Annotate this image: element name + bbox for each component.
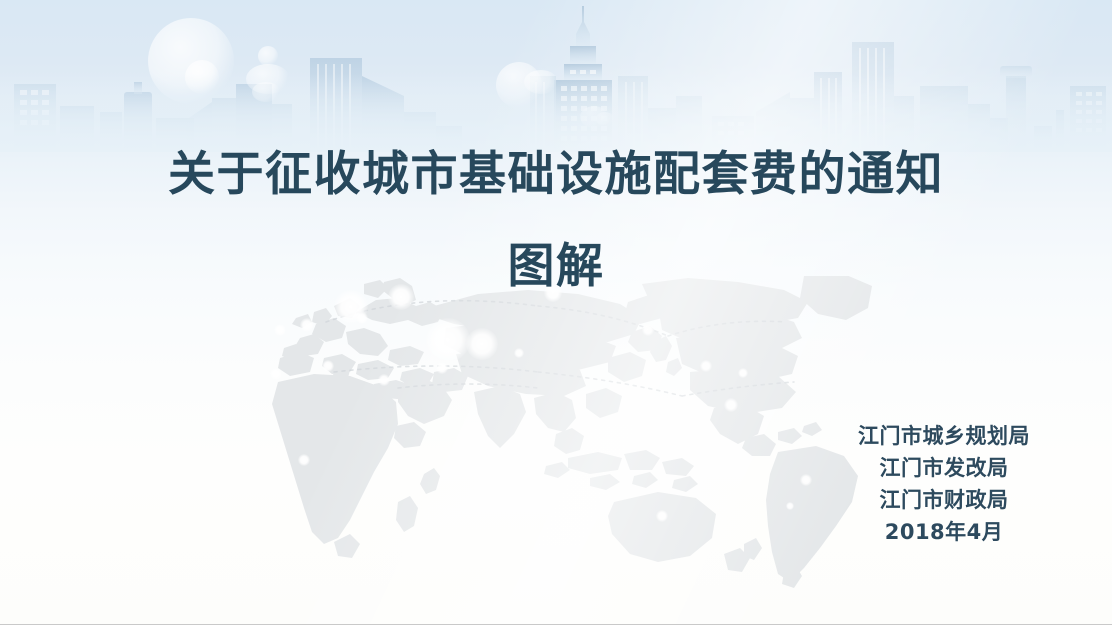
- bokeh-glow-icon: [246, 64, 290, 94]
- map-node-dot-icon: [642, 324, 654, 336]
- bokeh-glow-icon: [252, 82, 280, 102]
- map-node-dot-icon: [274, 324, 286, 336]
- map-node-dot-icon: [378, 374, 390, 386]
- bokeh-glow-icon: [524, 70, 558, 94]
- map-node-dot-icon: [436, 362, 448, 374]
- bokeh-glow-icon: [496, 62, 542, 108]
- map-node-dot-icon: [544, 284, 562, 302]
- map-node-dot-icon: [270, 368, 282, 380]
- skyline-fade-overlay: [0, 74, 1112, 152]
- page-title-line-2: 图解: [0, 236, 1112, 298]
- signature-date: 2018年4月: [844, 516, 1044, 548]
- signature-agency-2: 江门市发改局: [844, 452, 1044, 484]
- bokeh-glow-icon: [185, 60, 219, 94]
- map-node-dot-icon: [388, 284, 414, 310]
- map-node-dot-icon: [514, 348, 524, 358]
- bokeh-glow-icon: [148, 18, 234, 104]
- map-node-dot-icon: [356, 312, 368, 324]
- map-node-dot-icon: [786, 502, 794, 510]
- map-node-dot-icon: [334, 290, 368, 324]
- map-node-dot-icon: [426, 318, 470, 362]
- map-node-dot-icon: [656, 510, 668, 522]
- bokeh-glow-icon: [580, 106, 608, 128]
- map-node-dot-icon: [466, 328, 498, 360]
- page-title-line-1: 关于征收城市基础设施配套费的通知: [0, 144, 1112, 206]
- world-map-dotted: [238, 276, 910, 606]
- bokeh-glow-icon: [258, 46, 278, 66]
- map-node-dot-icon: [738, 368, 748, 378]
- map-node-dot-icon: [724, 398, 738, 412]
- map-node-dot-icon: [800, 474, 812, 486]
- map-node-dot-icon: [300, 318, 314, 332]
- map-node-dot-icon: [322, 360, 334, 372]
- city-skyline-silhouette: [0, 0, 1112, 152]
- presentation-title-slide: 关于征收城市基础设施配套费的通知 图解 江门市城乡规划局 江门市发改局 江门市财…: [0, 0, 1112, 625]
- slide-title-block: 关于征收城市基础设施配套费的通知 图解: [0, 144, 1112, 298]
- signature-agency-1: 江门市城乡规划局: [844, 420, 1044, 452]
- signature-agency-3: 江门市财政局: [844, 484, 1044, 516]
- bokeh-glow-icon: [596, 112, 614, 126]
- map-node-dot-icon: [700, 360, 712, 372]
- signature-block: 江门市城乡规划局 江门市发改局 江门市财政局 2018年4月: [844, 420, 1044, 548]
- map-node-dot-icon: [298, 454, 310, 466]
